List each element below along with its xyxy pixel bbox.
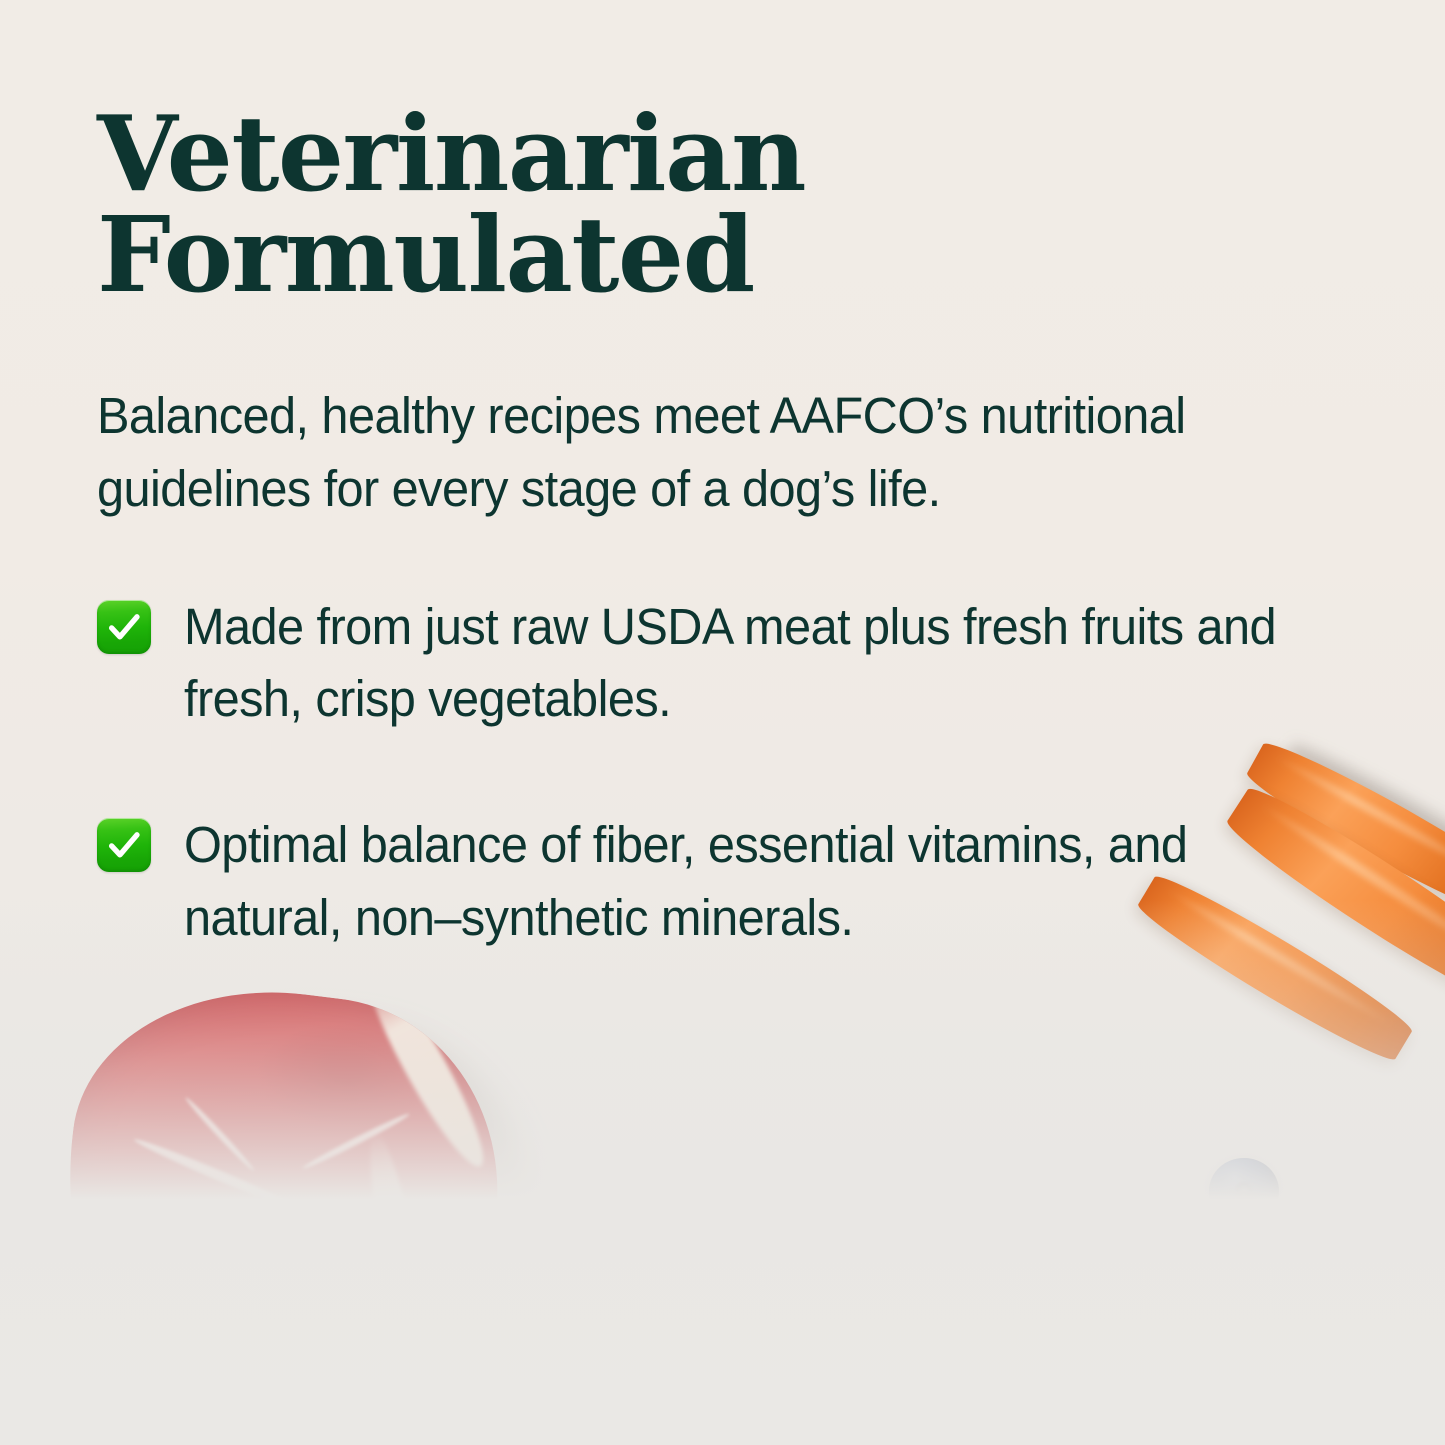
product-feature-panel: Veterinarian Formulated Balanced, health… xyxy=(0,0,1445,1445)
check-mark-button-icon xyxy=(97,818,151,872)
list-item-label: Optimal balance of fiber, essential vita… xyxy=(184,809,1333,954)
list-item: Optimal balance of fiber, essential vita… xyxy=(97,809,1387,954)
benefit-list: Made from just raw USDA meat plus fresh … xyxy=(97,526,1387,955)
check-mark-button-icon xyxy=(97,600,151,654)
page-title: Veterinarian Formulated xyxy=(97,104,1387,306)
list-item: Made from just raw USDA meat plus fresh … xyxy=(97,591,1387,736)
lede-paragraph: Balanced, healthy recipes meet AAFCO’s n… xyxy=(97,306,1324,526)
copy-block: Veterinarian Formulated Balanced, health… xyxy=(97,104,1387,954)
photo-background-wash xyxy=(0,900,1445,1445)
list-item-label: Made from just raw USDA meat plus fresh … xyxy=(184,591,1333,736)
